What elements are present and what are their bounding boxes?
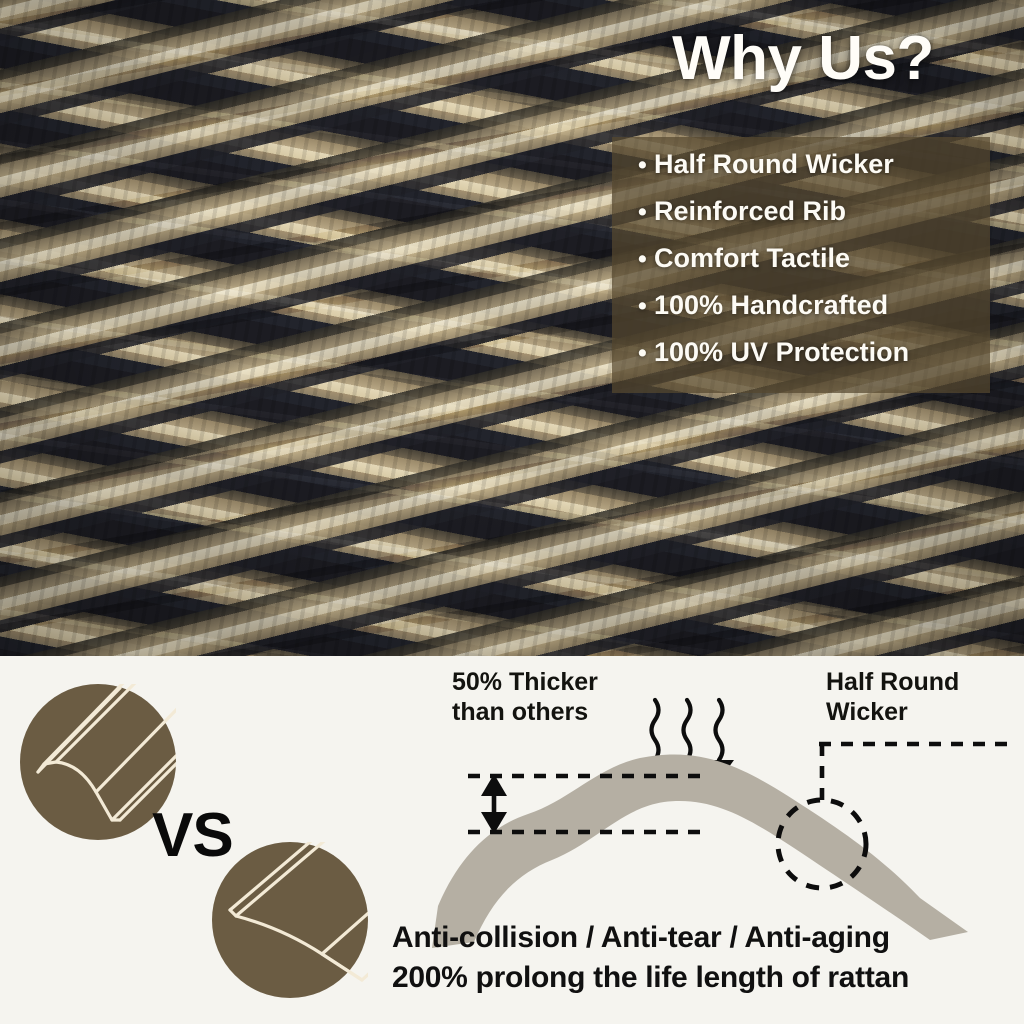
bullet-icon: • bbox=[638, 294, 654, 319]
uv-ray-icon bbox=[652, 700, 723, 760]
list-item-label: Comfort Tactile bbox=[654, 245, 850, 272]
bullet-icon: • bbox=[638, 200, 654, 225]
list-item-label: Half Round Wicker bbox=[654, 151, 894, 178]
footer-copy: Anti-collision / Anti-tear / Anti-aging … bbox=[392, 918, 909, 998]
bullet-icon: • bbox=[638, 153, 654, 178]
callout-leader-line bbox=[819, 744, 1012, 800]
list-item-label: 100% UV Protection bbox=[654, 339, 909, 366]
thickness-arrow-icon bbox=[481, 774, 507, 834]
bullet-icon: • bbox=[638, 247, 654, 272]
footer-line-2: 200% prolong the life length of rattan bbox=[392, 958, 909, 998]
bullet-icon: • bbox=[638, 341, 654, 366]
list-item: • Comfort Tactile bbox=[638, 245, 990, 272]
feature-list-panel: • Half Round Wicker • Reinforced Rib • C… bbox=[612, 137, 990, 393]
footer-line-1: Anti-collision / Anti-tear / Anti-aging bbox=[392, 918, 909, 958]
page-title: Why Us? bbox=[612, 26, 994, 91]
list-item: • 100% Handcrafted bbox=[638, 292, 990, 319]
list-item: • Half Round Wicker bbox=[638, 151, 990, 178]
list-item-label: Reinforced Rib bbox=[654, 198, 846, 225]
list-item: • Reinforced Rib bbox=[638, 198, 990, 225]
promo-graphic: Why Us? • Half Round Wicker • Reinforced… bbox=[0, 0, 1024, 1024]
list-item-label: 100% Handcrafted bbox=[654, 292, 888, 319]
list-item: • 100% UV Protection bbox=[638, 339, 990, 366]
